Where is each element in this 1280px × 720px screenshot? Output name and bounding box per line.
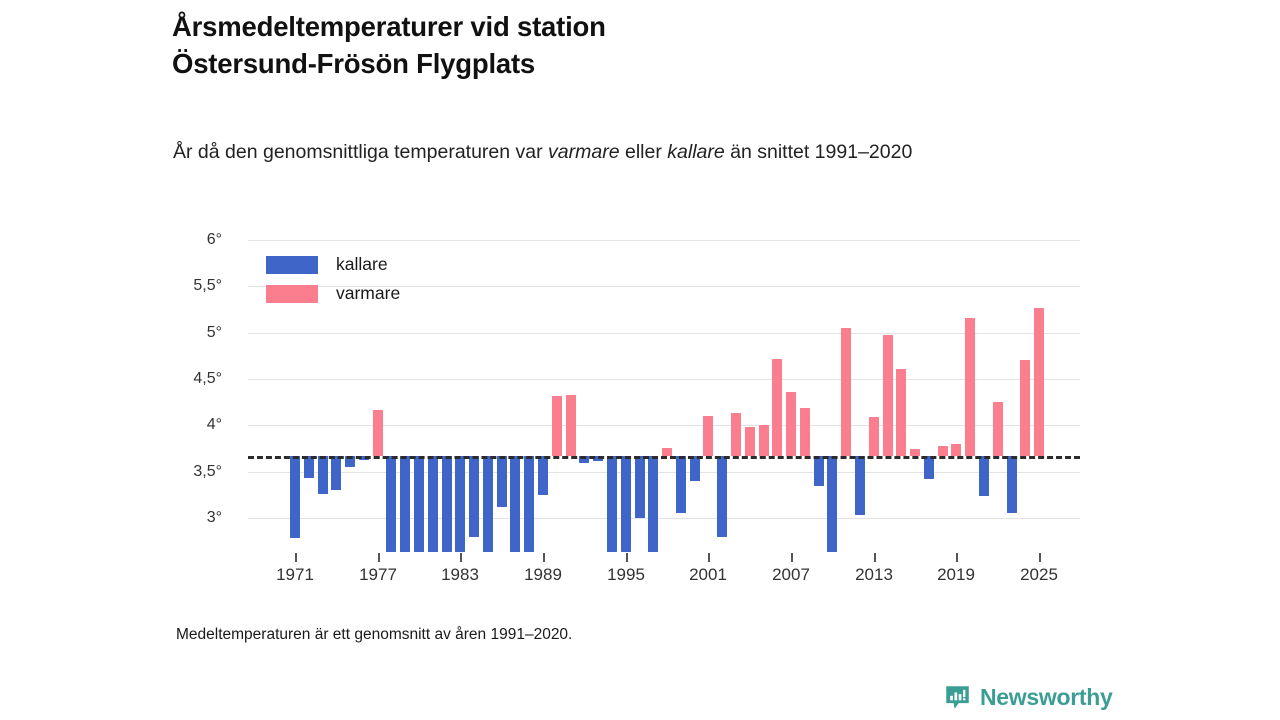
bar-1971[interactable] — [290, 456, 300, 538]
bar-2004[interactable] — [745, 427, 755, 456]
bar-2010[interactable] — [827, 456, 837, 552]
bar-2008[interactable] — [800, 408, 810, 456]
logo-text: Newsworthy — [980, 684, 1112, 711]
x-axis-tick-label: 1989 — [524, 565, 562, 585]
bar-1996[interactable] — [635, 456, 645, 518]
gridline — [248, 518, 1080, 519]
bar-2018[interactable] — [938, 446, 948, 456]
x-axis-tick — [626, 553, 628, 562]
chart-footnote: Medeltemperaturen är ett genomsnitt av å… — [176, 626, 572, 644]
bar-1973[interactable] — [318, 456, 328, 494]
y-axis-tick-label: 5,5° — [193, 277, 222, 295]
x-axis-tick-label: 2001 — [689, 565, 727, 585]
bar-1978[interactable] — [386, 456, 396, 552]
bar-2022[interactable] — [993, 402, 1003, 456]
x-axis-tick — [1039, 553, 1041, 562]
x-axis-tick-label: 1971 — [276, 565, 314, 585]
legend-item-kallare[interactable]: kallare — [266, 250, 400, 279]
x-axis-tick — [460, 553, 462, 562]
gridline — [248, 333, 1080, 334]
reference-line — [248, 456, 1080, 459]
x-axis-tick — [791, 553, 793, 562]
bar-2024[interactable] — [1020, 360, 1030, 456]
chart-legend: kallare varmare — [266, 250, 400, 308]
newsworthy-logo[interactable]: Newsworthy — [944, 684, 1112, 711]
bar-2011[interactable] — [841, 328, 851, 456]
bar-2002[interactable] — [717, 456, 727, 537]
legend-swatch-varmare — [266, 285, 318, 303]
bar-2021[interactable] — [979, 456, 989, 496]
bar-2007[interactable] — [786, 392, 796, 456]
x-axis-tick-label: 1977 — [359, 565, 397, 585]
bar-1988[interactable] — [524, 456, 534, 552]
bar-1985[interactable] — [483, 456, 493, 552]
bar-chart: 3°3,5°4°4,5°5°5,5°6° 1971197719831989199… — [0, 0, 1280, 720]
bar-1990[interactable] — [552, 396, 562, 456]
y-axis-tick-label: 4° — [207, 416, 222, 434]
bar-1995[interactable] — [621, 456, 631, 552]
x-axis-tick-label: 2013 — [855, 565, 893, 585]
bar-2013[interactable] — [869, 417, 879, 456]
x-axis-tick-label: 1983 — [441, 565, 479, 585]
bar-1972[interactable] — [304, 456, 314, 478]
legend-label-varmare: varmare — [336, 283, 400, 304]
x-axis-tick — [378, 553, 380, 562]
legend-item-varmare[interactable]: varmare — [266, 279, 400, 308]
bar-2023[interactable] — [1007, 456, 1017, 513]
x-axis-tick-label: 1995 — [607, 565, 645, 585]
x-axis-tick — [295, 553, 297, 562]
bar-1984[interactable] — [469, 456, 479, 538]
bar-2016[interactable] — [910, 449, 920, 456]
y-axis-tick-label: 4,5° — [193, 370, 222, 388]
bar-chart-speech-bubble-icon — [944, 684, 971, 711]
bar-1982[interactable] — [442, 456, 452, 552]
bar-1977[interactable] — [373, 410, 383, 456]
y-axis-tick-label: 6° — [207, 231, 222, 249]
bar-1980[interactable] — [414, 456, 424, 552]
x-axis-tick — [708, 553, 710, 562]
bar-2009[interactable] — [814, 456, 824, 486]
bar-2025[interactable] — [1034, 308, 1044, 456]
legend-label-kallare: kallare — [336, 254, 388, 275]
gridline — [248, 379, 1080, 380]
bar-2015[interactable] — [896, 369, 906, 456]
bar-1981[interactable] — [428, 456, 438, 552]
bar-2005[interactable] — [759, 425, 769, 456]
bar-1997[interactable] — [648, 456, 658, 552]
gridline — [248, 472, 1080, 473]
bar-1989[interactable] — [538, 456, 548, 495]
bar-2014[interactable] — [883, 335, 893, 455]
x-axis-tick — [956, 553, 958, 562]
x-axis-tick-label: 2007 — [772, 565, 810, 585]
gridline — [248, 240, 1080, 241]
bar-1999[interactable] — [676, 456, 686, 513]
bar-1998[interactable] — [662, 448, 672, 456]
bar-1987[interactable] — [510, 456, 520, 552]
bar-2020[interactable] — [965, 318, 975, 456]
chart-page: Årsmedeltemperaturer vid station Östersu… — [0, 0, 1280, 720]
bar-2019[interactable] — [951, 444, 961, 456]
y-axis-tick-label: 3,5° — [193, 463, 222, 481]
legend-swatch-kallare — [266, 256, 318, 274]
x-axis-tick — [874, 553, 876, 562]
y-axis-tick-label: 3° — [207, 509, 222, 527]
bar-1986[interactable] — [497, 456, 507, 507]
bar-2003[interactable] — [731, 413, 741, 456]
x-axis-tick — [543, 553, 545, 562]
bar-1974[interactable] — [331, 456, 341, 490]
bar-1994[interactable] — [607, 456, 617, 552]
bar-1983[interactable] — [455, 456, 465, 552]
bar-2012[interactable] — [855, 456, 865, 515]
bar-2006[interactable] — [772, 359, 782, 456]
bar-2000[interactable] — [690, 456, 700, 481]
bar-1979[interactable] — [400, 456, 410, 552]
y-axis-tick-label: 5° — [207, 324, 222, 342]
x-axis-tick-label: 2025 — [1020, 565, 1058, 585]
bar-2001[interactable] — [703, 416, 713, 456]
bar-2017[interactable] — [924, 456, 934, 479]
x-axis-tick-label: 2019 — [937, 565, 975, 585]
bar-1991[interactable] — [566, 395, 576, 456]
